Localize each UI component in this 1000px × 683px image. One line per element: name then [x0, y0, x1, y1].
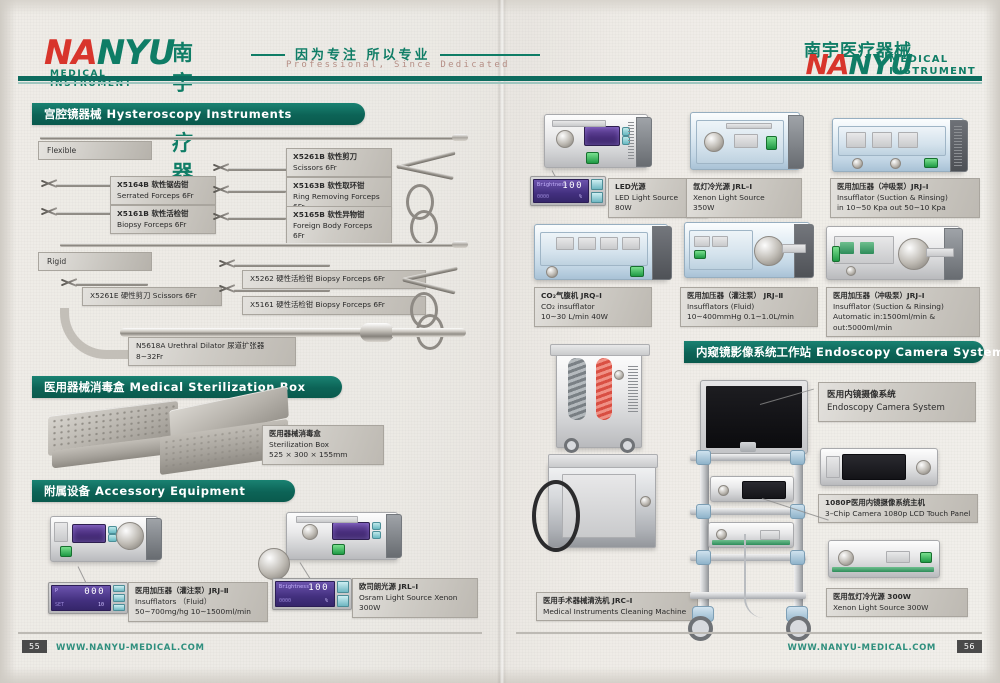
- instrument-shaft: [56, 212, 112, 215]
- instrument-shaft: [228, 190, 286, 193]
- instrument-caption: X5165B 软性异物钳 Foreign Body Forceps 6Fr: [286, 206, 392, 246]
- control-pad: [734, 134, 758, 148]
- instrument-shaft: [234, 289, 330, 292]
- instrument-caption: X5164B 软性锯齿钳 Serrated Forceps 6Fr: [110, 176, 216, 205]
- logo-wordmark: NANYU: [44, 36, 174, 70]
- slogan-rule-left: [251, 54, 285, 56]
- scissors-arm: [396, 164, 454, 180]
- scissors-ring: [410, 210, 438, 246]
- trolley-joint: [696, 504, 711, 519]
- dilator-tail: [392, 328, 466, 337]
- sterilization-caption: 医用器械消毒盒 Sterilization Box 525 × 300 × 15…: [262, 425, 384, 465]
- device-led-light-source: [544, 114, 648, 168]
- light-port: [704, 132, 724, 152]
- device-vent: [954, 126, 962, 166]
- header-rule: [18, 76, 982, 81]
- device-button: [372, 522, 381, 530]
- device-branding-strip: [552, 120, 606, 127]
- device-left-panel: [826, 456, 840, 478]
- power-button: [586, 152, 599, 164]
- dilator-knob: [360, 323, 394, 342]
- display-window: [860, 242, 874, 254]
- coiled-hose-grey: [568, 358, 586, 420]
- device-cleaning-machine-closed: [548, 462, 656, 548]
- trolley-camera-unit: [710, 476, 794, 502]
- tag-rigid: Rigid: [38, 252, 152, 271]
- trolley-joint: [696, 450, 711, 465]
- device-side-panel: [386, 514, 402, 558]
- rigid-scope-shaft: [60, 243, 460, 247]
- machine-vent: [628, 366, 638, 414]
- power-button: [60, 546, 72, 557]
- port-connector: [890, 158, 901, 169]
- page-edge-left: [0, 0, 16, 683]
- logo-left: NANYU 南宇医疗器械 MEDICAL INSTRUMENT: [44, 36, 174, 70]
- instrument-shaft: [234, 264, 330, 267]
- device-branding-strip: [296, 516, 358, 523]
- led-display-callout: Brightness 100 0000 %: [530, 176, 606, 206]
- camera-port: [718, 485, 729, 496]
- instrument-shaft: [56, 184, 112, 187]
- dilator-caption: N5618A Urethral Dilator 尿道扩张器 8~32Fr: [128, 337, 296, 366]
- trolley-joint: [696, 550, 711, 565]
- drain-hose: [532, 480, 580, 552]
- footer-url-left[interactable]: WWW.NANYU-MEDICAL.COM: [56, 643, 205, 653]
- camera-host-caption: 1080P医用内镜摄像系统主机 3–Chip Camera 1080p LCD …: [818, 494, 978, 523]
- power-button: [630, 266, 644, 277]
- dilator-body: [120, 328, 378, 337]
- tubing-connector: [782, 244, 806, 253]
- section-header-sterilization: 医用器械消毒盒 Medical Sterilization Box: [32, 376, 342, 398]
- page-number-left: 55: [22, 640, 47, 653]
- display-window: [694, 236, 710, 247]
- camera-system-caption: 医用内镜摄像系统 Endoscopy Camera System: [818, 382, 976, 422]
- light-source-display-callout: Brightness 100 0000 %: [272, 578, 352, 610]
- tag-flexible: Flexible: [38, 141, 152, 160]
- device-insufflator-suction-auto: [826, 226, 960, 280]
- scissors-illustration: [390, 140, 480, 250]
- device-side-panel: [146, 518, 162, 560]
- touch-panel-screen: [842, 454, 906, 480]
- device-button: [372, 531, 381, 539]
- device-osram-light-source: [286, 512, 398, 560]
- header-rule-light: [18, 82, 982, 84]
- device-screen: [332, 522, 370, 540]
- device-side-panel: [636, 117, 652, 167]
- display-screen: Brightness 100 0000 %: [275, 581, 335, 607]
- display-window: [556, 237, 574, 250]
- trolley-wheel: [688, 616, 713, 641]
- light-port: [716, 529, 727, 540]
- instrument-shaft: [228, 168, 288, 171]
- display-keys[interactable]: [113, 585, 125, 611]
- insufflator-display-callout: P 000 SET 10: [48, 582, 128, 614]
- machine-top: [548, 454, 658, 468]
- light-port: [302, 524, 318, 540]
- display-keys[interactable]: [591, 179, 603, 203]
- light-guide-adapter: [258, 548, 290, 580]
- page-edge-right: [984, 0, 1000, 683]
- display-window: [898, 132, 918, 148]
- slogan-rule-right: [440, 54, 540, 56]
- sterilization-box-closed: [48, 408, 178, 466]
- light-port: [556, 130, 574, 148]
- tubing-connector: [926, 248, 954, 257]
- coiled-hose-red: [596, 358, 612, 420]
- forceps-arm: [402, 278, 455, 295]
- port-connector: [852, 158, 863, 169]
- device-co2-insufflator: [534, 224, 668, 280]
- catalog-page: NANYU 南宇医疗器械 MEDICAL INSTRUMENT 因为专注 所以专…: [0, 0, 1000, 683]
- pump-rotor: [754, 236, 784, 266]
- xenon-300w-caption: 医用氙灯冷光源 300W Xenon Light Source 300W: [826, 588, 968, 617]
- device-caption: 医用加压器（灌注泵） JRJ–Ⅱ Insufflators (Fluid) 10…: [680, 287, 818, 327]
- device-side-panel: [788, 115, 804, 169]
- display-window: [872, 132, 892, 148]
- device-xenon-light-source: [690, 112, 800, 170]
- footer-rule-left: [18, 632, 482, 634]
- instrument-caption: X5161B 软性活检钳 Biopsy Forceps 6Fr: [110, 205, 216, 234]
- power-button: [832, 246, 840, 262]
- power-button: [694, 250, 706, 259]
- device-caption: 医用加压器（冲吸泵）JRJ–Ⅰ Insufflator (Suction & R…: [830, 178, 980, 218]
- section-header-accessory: 附属设备 Accessory Equipment: [32, 480, 295, 502]
- display-window: [622, 237, 640, 250]
- device-screen: [584, 126, 620, 146]
- trolley-joint: [790, 450, 805, 465]
- display-screen: P 000 SET 10: [51, 585, 111, 611]
- device-screen: [72, 524, 106, 543]
- page-number-right: 56: [957, 640, 982, 653]
- trolley-joint: [790, 550, 805, 565]
- machine-wheel: [620, 438, 635, 453]
- device-vent: [628, 122, 634, 160]
- rigid-scope-tip: [452, 241, 468, 248]
- device-1080p-camera-host: [820, 448, 938, 486]
- display-window: [712, 236, 728, 247]
- gas-port: [546, 266, 558, 278]
- section-header-hysteroscopy: 宫腔镜器械 Hysteroscopy Instruments: [32, 103, 365, 125]
- camera-port: [916, 460, 931, 475]
- accessory-caption: 医用加压器（灌注泵）JRJ–Ⅱ Insufflators （Fluid） 50~…: [128, 582, 268, 622]
- trolley-wheel: [786, 616, 811, 641]
- device-caption: 医用加压器（冲吸泵）JRJ–Ⅰ Insufflator (Suction & R…: [826, 287, 980, 337]
- footer-url-right[interactable]: WWW.NANYU-MEDICAL.COM: [787, 643, 936, 653]
- device-cleaning-machine: [556, 352, 642, 448]
- power-button: [924, 158, 938, 168]
- display-window: [578, 237, 596, 250]
- device-branding-strip: [726, 123, 772, 129]
- display-window: [840, 242, 854, 254]
- machine-top-tray: [550, 344, 650, 356]
- pump-rotor: [116, 522, 144, 550]
- port-connector: [846, 266, 856, 276]
- display-window: [886, 551, 910, 563]
- device-xenon-300w: [828, 540, 940, 578]
- power-button: [920, 552, 932, 563]
- display-keys[interactable]: [337, 581, 349, 607]
- device-accent-strip: [832, 567, 934, 572]
- device-side-panel: [652, 226, 672, 280]
- scope-cable: [744, 534, 772, 618]
- machine-wheel: [564, 438, 579, 453]
- display-window: [600, 237, 618, 250]
- page-gutter: [497, 0, 507, 683]
- slogan-english: Professional, Since Dedicated: [286, 60, 510, 70]
- light-port: [838, 550, 854, 566]
- monitor-stand: [740, 442, 756, 452]
- display-screen: Brightness 100 0000 %: [533, 179, 589, 203]
- power-button: [766, 136, 777, 150]
- camera-unit-screen: [742, 481, 786, 499]
- spray-nozzle: [614, 370, 624, 380]
- device-caption: CO₂气腹机 JRQ–Ⅰ CO₂ insufflator 10~30 L/min…: [534, 287, 652, 327]
- display-window: [846, 132, 866, 148]
- power-button: [332, 544, 345, 555]
- door-handle: [640, 496, 651, 507]
- device-left-panel: [54, 522, 68, 542]
- device-caption: 氙灯冷光源 JRL–Ⅰ Xenon Light Source 350W: [686, 178, 802, 218]
- accessory-caption: 欧司朗光源 JRL–Ⅰ Osram Light Source Xenon 300…: [352, 578, 478, 618]
- instrument-shaft: [76, 283, 148, 286]
- device-insufflator-fluid-jrj2: [684, 222, 810, 278]
- trolley-post: [794, 450, 803, 610]
- logo-right-subtitle: MEDICAL INSTRUMENT: [889, 54, 976, 78]
- footer-rule-right: [516, 632, 982, 634]
- cleaning-machine-caption: 医用手术器械清洗机 JRC–Ⅰ Medical Instruments Clea…: [536, 592, 698, 621]
- section-header-camera-system: 内窥镜影像系统工作站 Endoscopy Camera System: [684, 341, 984, 363]
- instrument-shaft: [228, 217, 286, 220]
- device-insufflator-fluid: [50, 516, 158, 562]
- instrument-caption: X5261B 软性剪刀 Scissors 6Fr: [286, 148, 392, 177]
- device-insufflator-suction-rinsing: [832, 118, 964, 172]
